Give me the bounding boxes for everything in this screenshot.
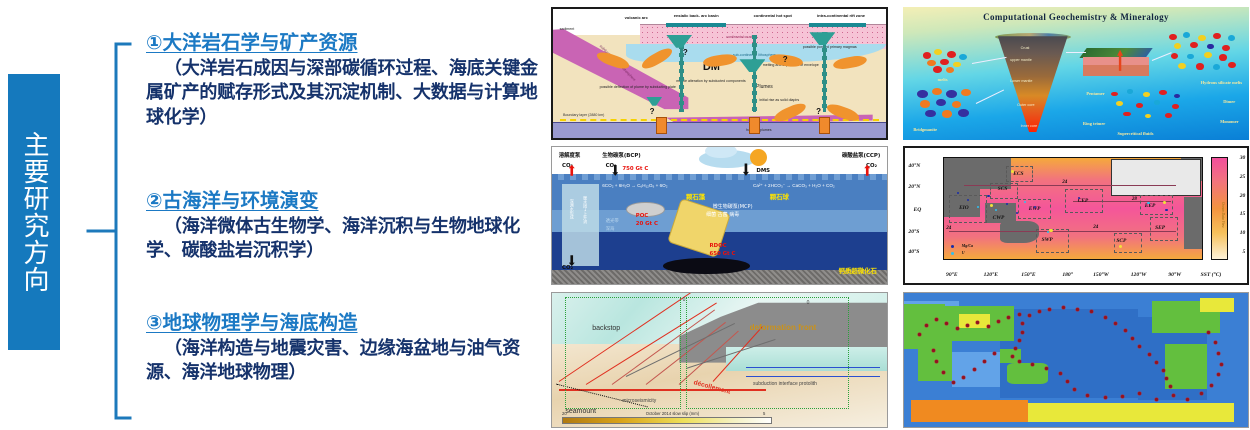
label-subduction-interface-protolith: subduction interface protolith xyxy=(753,381,817,387)
hotspot-column-3 xyxy=(819,117,830,134)
topic-3-line-1: （海洋构造与地震灾害、边缘海盆地 xyxy=(164,338,449,358)
figure-sst-map: 24 24 24 28 ECS SCS EIO xyxy=(903,146,1249,285)
topic-1-body: （大洋岩石成因与深部碳循环过程、海底关键金属矿产的赋存形式及其沉淀机制、大数据与… xyxy=(146,56,546,129)
question-mark-1: ? xyxy=(683,48,688,57)
region-label-scp: SCP xyxy=(1116,238,1126,244)
epicenter xyxy=(1073,388,1076,391)
leader-line-3 xyxy=(1066,52,1087,53)
poc-label: POC xyxy=(636,213,649,219)
epicenter xyxy=(973,368,976,371)
land-greenland xyxy=(1200,298,1234,311)
epicenter xyxy=(987,325,990,328)
sample-dot xyxy=(1034,206,1036,208)
epicenter xyxy=(1076,308,1079,311)
region-label-eio: EIO xyxy=(959,205,969,211)
slow-slip-colorbar xyxy=(562,417,772,424)
epicenter xyxy=(1031,363,1034,366)
label-hydrous-silicate-melts: Hydrous silicate melts xyxy=(1201,80,1242,85)
question-mark-4: ? xyxy=(816,107,821,116)
cbar-title: SST (°C) xyxy=(1201,272,1222,278)
epicenter xyxy=(1104,316,1107,319)
label-plumes: Plumes xyxy=(756,84,773,90)
epicenter xyxy=(918,333,921,336)
topic-2-heading: ②古海洋与环境演变 xyxy=(146,184,546,213)
y-tick-20s: 20°S xyxy=(908,229,919,235)
block-side-lower xyxy=(1083,65,1149,76)
label-monomer: Monomer xyxy=(1220,119,1239,124)
grouping-bracket xyxy=(86,40,146,422)
contour-label-24-sw: 24 xyxy=(946,226,951,231)
contour-label-24-n: 24 xyxy=(1062,180,1067,185)
figure-computational-geochemistry: Computational Geochemistry & Mineralogy … xyxy=(903,7,1249,140)
molecule-cluster-supercritical xyxy=(1104,87,1194,127)
hbar-backarc xyxy=(666,23,726,27)
label-ensialic-back-arc-basin: ensialic back- arc basin xyxy=(653,13,740,18)
co2-label-deep: CO₂ xyxy=(562,265,573,271)
epicenter xyxy=(1210,384,1213,387)
mantle-boundary-layer xyxy=(553,122,886,138)
region-label-sep: SEP xyxy=(1155,225,1165,231)
flux-20: 20 Gt C xyxy=(636,221,658,227)
ocean-pump-diagram: 溶解度泵 生物碳泵(BCP) 碳酸盐泵(CCP) 细菌 古菌 病毒 微生物碳泵(… xyxy=(552,147,887,284)
legend-label-u: U xyxy=(962,250,965,255)
contour-label-28: 28 xyxy=(1132,197,1137,202)
label-ring-trimer: Ring trimer xyxy=(1083,121,1105,126)
epicenter xyxy=(1059,372,1062,375)
sample-dot-star xyxy=(1049,229,1052,232)
topic-3-heading: ③地球物理学与海底构造 xyxy=(146,306,546,335)
molecule-cluster-bridgmanite xyxy=(913,87,979,122)
cbar-tick-5: 5 xyxy=(1243,249,1246,255)
figure-seismic-section: backstop deformation front décollement m… xyxy=(551,292,888,428)
land-antarctica-e xyxy=(1028,403,1234,422)
epicenter xyxy=(956,327,959,330)
label-boundary-layer: Boundary layer (2880 km) xyxy=(563,113,604,117)
research-topic-2: ②古海洋与环境演变 （海洋微体古生物学、海洋沉积与生物地球化学、碳酸盐岩沉积学） xyxy=(146,184,546,263)
epicenter xyxy=(935,360,938,363)
question-mark-3: ? xyxy=(650,107,655,116)
y-tick-40s: 40°S xyxy=(908,249,919,255)
label-calcareous-nannofossil: 钙质超微化石 xyxy=(839,266,877,275)
earth-cone-section xyxy=(996,36,1069,132)
epicenter xyxy=(932,349,935,352)
epicenter xyxy=(1121,395,1124,398)
ocean-wave-line xyxy=(552,174,887,179)
cone-layer-outer-core: Outer core xyxy=(1017,103,1034,107)
sample-dot xyxy=(987,195,989,197)
sample-dot xyxy=(1024,201,1026,203)
label-photic-zone: 透光带 xyxy=(606,218,619,224)
x-tick-180: 180° xyxy=(1062,272,1073,278)
vertical-label-text: 主要研究方向 xyxy=(18,131,50,293)
epicenter xyxy=(942,371,945,374)
topic-2-line-1: （海洋微体古生物学、海洋沉积与生 xyxy=(164,216,449,236)
epicenter xyxy=(1200,392,1203,395)
y-tick-40n: 40°N xyxy=(908,163,920,169)
y-tick-20n: 20°N xyxy=(908,184,920,190)
subduction-block-diagram xyxy=(1083,48,1149,80)
epicenter xyxy=(925,324,928,327)
annotation-ponded-primary-magmas: possible ponded primary magmas xyxy=(803,45,857,49)
epicenter xyxy=(1155,398,1158,401)
leader-line-1 xyxy=(972,57,1006,64)
annotation-mantle-alteration: mantle alteration by subducted component… xyxy=(676,79,746,83)
sample-dot-star xyxy=(1011,170,1014,173)
label-coccolithophore: 颗石藻 xyxy=(686,192,705,201)
label-bridgmanite: Bridgmanite xyxy=(913,127,937,132)
sample-dot xyxy=(1078,197,1080,199)
label-carbonate-counter-pump: 碳酸盐泵(CCP) xyxy=(842,151,880,159)
cone-layer-crust: Crust xyxy=(1021,46,1030,50)
label-coccosphere: 颗石球 xyxy=(770,192,789,201)
label-sediment: sediment xyxy=(560,27,575,31)
region-label-cwp: CWP xyxy=(993,215,1005,221)
label-solubility-pump: 溶解度泵 xyxy=(559,151,581,159)
label-microbial-carbon-pump: 细菌 古菌 病毒 xyxy=(706,211,739,218)
sun-icon xyxy=(750,149,767,166)
cbar-side-label: Ocean Data View xyxy=(1221,202,1225,228)
label-supercritical-fluids: Supercritical fluids xyxy=(1118,131,1154,136)
region-label-eep: EEP xyxy=(1145,203,1155,209)
land-australia xyxy=(1007,363,1048,384)
contour-label-24-s: 24 xyxy=(1093,225,1098,230)
cone-layer-inner-core: Inner core xyxy=(1021,124,1038,128)
plume-conduit-2 xyxy=(753,35,756,112)
epicenter xyxy=(1066,380,1069,383)
annotation-initial-rise-diapirs: initial rise as solid diapirs xyxy=(759,98,799,102)
label-mcp: 微生物碳泵(MCP) xyxy=(713,203,753,210)
sst-map-diagram: 24 24 24 28 ECS SCS EIO xyxy=(905,148,1247,283)
cbar-tick-20: 20 xyxy=(1240,193,1246,199)
sample-dot xyxy=(1147,202,1149,204)
epicenter xyxy=(1214,341,1217,344)
cbar-tick-25: 25 xyxy=(1240,174,1246,180)
annotation-plume-deflection: possible deflection of plume by subducti… xyxy=(600,85,676,89)
mantle-diagram: volcanic arc ensialic back- arc basin co… xyxy=(553,9,886,138)
slide-root: 主要研究方向 ①大洋岩石学与矿产资源 （大洋岩石成因与深部碳循环过程、海底关键金… xyxy=(0,0,1250,430)
x-tick-90w: 90°W xyxy=(1168,272,1181,278)
epicenter xyxy=(1021,331,1024,334)
label-backstop: backstop xyxy=(592,325,620,332)
epicenter xyxy=(1018,339,1021,342)
main-research-directions-label: 主要研究方向 xyxy=(8,74,60,350)
solubility-pump-column xyxy=(562,184,599,266)
global-seismicity-map xyxy=(904,293,1248,427)
label-continental-hot-spot: continental hot spot xyxy=(736,13,809,18)
hbar-rift xyxy=(809,23,866,27)
sample-dot xyxy=(1016,212,1018,214)
topic-1-line-1: （大洋岩石成因与深部碳循环过程、 xyxy=(164,58,449,78)
label-melts: melts xyxy=(938,77,948,82)
land-south-america xyxy=(1165,344,1206,390)
label-deep-sea: 深海 xyxy=(606,226,615,232)
x-tick-120w: 120°W xyxy=(1131,272,1147,278)
research-topic-3: ③地球物理学与海底构造 （海洋构造与地震灾害、边缘海盆地与油气资源、海洋地球物理… xyxy=(146,306,546,385)
dms-label: DMS xyxy=(756,168,770,174)
photosynthesis-equation: 6CO₂ + 6H₂O → C₆H₁₂O₆ + 6O₂ xyxy=(602,183,667,188)
label-biological-carbon-pump: 生物碳泵(BCP) xyxy=(602,151,641,159)
depth-tick-right-0: 0 xyxy=(807,300,810,306)
label-dimer: Dimer xyxy=(1223,99,1235,104)
topic-3-body: （海洋构造与地震灾害、边缘海盆地与油气资源、海洋地球物理） xyxy=(146,336,546,385)
epicenter xyxy=(1186,398,1189,401)
figure-global-seismicity xyxy=(903,292,1249,428)
region-label-ecs: ECS xyxy=(1013,171,1023,177)
land-south-america xyxy=(1184,197,1202,249)
y-tick-eq: EQ xyxy=(914,207,922,213)
hotspot-column-2 xyxy=(749,117,760,134)
land-central-asia-highlands xyxy=(959,314,990,327)
molecule-cluster-hydrous-melts xyxy=(1166,31,1242,76)
topic-2-body: （海洋微体古生物学、海洋沉积与生物地球化学、碳酸盐岩沉积学） xyxy=(146,214,546,263)
epicenter xyxy=(997,320,1000,323)
label-intra-continental-rift-zone: intra-continental rift zone xyxy=(799,13,882,18)
land-antarctica-w xyxy=(911,400,1028,421)
epicenter xyxy=(1011,355,1014,358)
calcification-equation: Ca²⁺ + 2HCO₃⁻ → CaCO₃ + H₂O + CO₂ xyxy=(753,183,835,189)
epicenter xyxy=(1007,316,1010,319)
epicenter xyxy=(1104,396,1107,399)
epicenter xyxy=(1217,373,1220,376)
epicenter xyxy=(1018,360,1021,363)
question-mark-2: ? xyxy=(783,55,788,64)
sst-colorbar xyxy=(1211,157,1228,260)
indian-ocean-shelf xyxy=(952,352,1000,387)
epicenter xyxy=(1207,331,1210,334)
x-tick-150e: 150°E xyxy=(1021,272,1035,278)
cbar-min-label: 20 xyxy=(562,411,567,416)
figure-grid: volcanic arc ensialic back- arc basin co… xyxy=(551,5,1249,429)
sst-plot-area: 24 24 24 28 ECS SCS EIO xyxy=(943,157,1203,260)
sst-inset-map xyxy=(1111,159,1201,195)
cone-layer-lower-mantle: Lower mantle xyxy=(1010,79,1032,83)
region-label-scs: SCS xyxy=(998,186,1008,192)
zoom-box-left xyxy=(565,297,681,409)
label-continental-crust: continental crust xyxy=(726,35,752,39)
label-deformation-front: deformation front xyxy=(750,324,817,332)
legend-dot-mgca xyxy=(951,245,954,248)
legend-dot-u xyxy=(951,252,954,255)
label-upwelling: 暖水团→上升流 xyxy=(582,196,588,223)
epicenter xyxy=(1217,352,1220,355)
flux-750: 750 Gt C xyxy=(622,166,648,172)
epicenter xyxy=(1014,347,1017,350)
region-label-swp: SWP xyxy=(1042,237,1053,243)
cbar-title-label: October 2014 slow slip (mm) xyxy=(646,411,699,416)
cloud-icon xyxy=(699,150,756,168)
sample-dot xyxy=(957,192,959,194)
land-australia xyxy=(1000,221,1039,243)
leader-line-2 xyxy=(975,89,1003,104)
research-topic-1: ①大洋岩石学与矿产资源 （大洋岩石成因与深部碳循环过程、海底关键金属矿产的赋存形… xyxy=(146,26,546,129)
epicenter xyxy=(1220,363,1223,366)
label-microseismicity: microseismicity xyxy=(622,398,656,404)
topic-1-heading: ①大洋岩石学与矿产资源 xyxy=(146,26,546,55)
x-tick-90e: 90°E xyxy=(946,272,958,278)
epicenter xyxy=(1086,394,1089,397)
epicenter xyxy=(966,324,969,327)
figure-mantle-section: volcanic arc ensialic back- arc basin co… xyxy=(551,7,888,140)
plume-vent-2 xyxy=(739,59,765,72)
research-topics-list: ①大洋岩石学与矿产资源 （大洋岩石成因与深部碳循环过程、海底关键金属矿产的赋存形… xyxy=(146,6,546,426)
sample-dot xyxy=(967,199,969,201)
cbar-tick-10: 10 xyxy=(1240,230,1246,236)
figure-ocean-carbon-pump: 溶解度泵 生物碳泵(BCP) 碳酸盐泵(CCP) 细菌 古菌 病毒 微生物碳泵(… xyxy=(551,146,888,285)
molecule-cluster-melts xyxy=(917,47,976,76)
rdoc-label: RDOC xyxy=(709,243,726,249)
seismic-section-diagram: backstop deformation front décollement m… xyxy=(552,293,887,427)
hotspot-column-1 xyxy=(656,117,667,134)
flux-650: 650 Gt C xyxy=(709,251,735,257)
mantle-dashed-boundary xyxy=(560,119,880,121)
zoom-box-right xyxy=(686,297,849,409)
epicenter xyxy=(1045,367,1048,370)
depth-tick-top-0: 0 xyxy=(683,297,686,303)
label-seamount: seamount xyxy=(565,408,596,415)
cbar-max-label: 5 xyxy=(763,411,765,416)
cone-layer-upper-mantle: upper mantle xyxy=(1010,58,1032,62)
label-pentamer: Pentamer xyxy=(1086,91,1104,96)
compgeo-diagram: Computational Geochemistry & Mineralogy … xyxy=(903,7,1249,140)
label-deep-water-formation: 深渊水形成 xyxy=(569,199,575,219)
epicenter xyxy=(1172,394,1175,397)
x-tick-150w: 150°W xyxy=(1093,272,1109,278)
compgeo-title: Computational Geochemistry & Mineralogy xyxy=(903,12,1249,22)
legend-label-mgca: Mg/Ca xyxy=(962,243,973,248)
epicenter xyxy=(1018,313,1021,316)
cbar-tick-30: 30 xyxy=(1240,155,1246,161)
cbar-tick-15: 15 xyxy=(1240,211,1246,217)
sample-dot xyxy=(1006,203,1008,205)
x-tick-120e: 120°E xyxy=(984,272,998,278)
sample-dot xyxy=(1165,209,1167,211)
